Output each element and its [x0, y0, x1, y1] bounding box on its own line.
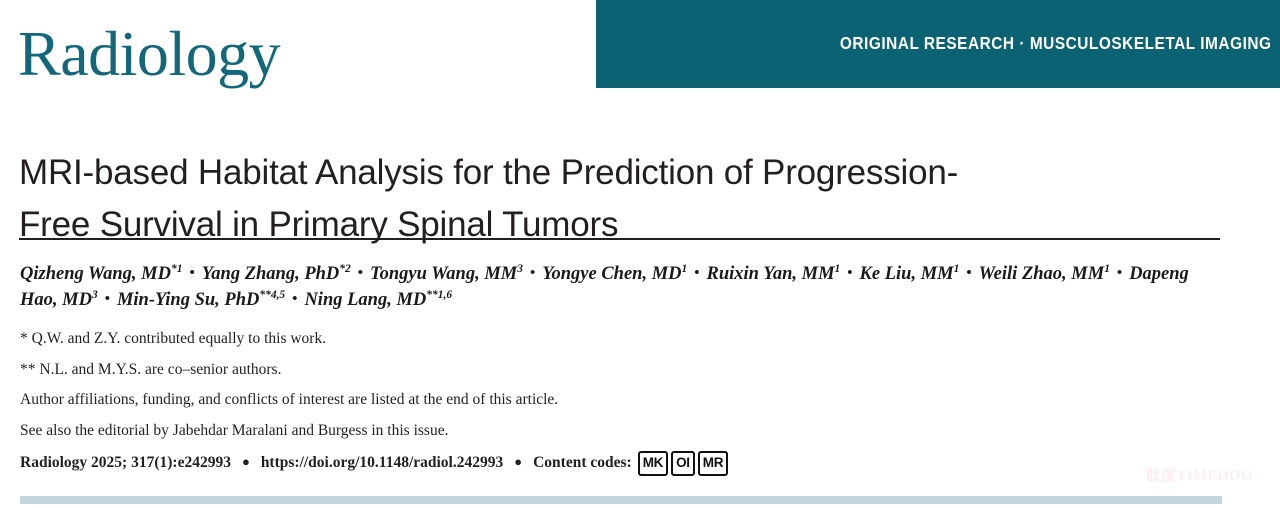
- category-banner-label: ORIGINAL RESEARCH · MUSCULOSKELETAL IMAG…: [840, 33, 1272, 54]
- author-entry[interactable]: Min-Ying Su, PhD**4,5: [117, 290, 285, 310]
- citation-separator-icon-2: ●: [503, 454, 533, 470]
- citation-line: Radiology 2025; 317(1):e242993 ● https:/…: [20, 451, 731, 476]
- content-codes-group: MKOIMR: [638, 451, 731, 476]
- site-watermark: 肽度TIMEDOO: [1146, 464, 1253, 485]
- content-code-badge[interactable]: OI: [671, 451, 695, 476]
- content-codes-label: Content codes:: [533, 454, 632, 472]
- author-name: Ruixin Yan, MM: [707, 264, 835, 284]
- journal-logo[interactable]: Radiology: [18, 22, 280, 86]
- bottom-accent-bar: [20, 496, 1222, 504]
- author-separator-icon: •: [351, 265, 370, 281]
- author-name: Weili Zhao, MM: [979, 264, 1105, 284]
- footnote-line: See also the editorial by Jabehdar Maral…: [20, 422, 1220, 440]
- author-entry[interactable]: Yongye Chen, MD1: [542, 264, 687, 284]
- title-divider-rule: [19, 238, 1220, 240]
- author-affiliation-marker: *1: [171, 263, 182, 275]
- author-affiliation-marker: **4,5: [259, 289, 285, 301]
- author-affiliation-marker: 3: [92, 289, 98, 301]
- author-entry[interactable]: Ruixin Yan, MM1: [707, 264, 841, 284]
- footnote-line: ** N.L. and M.Y.S. are co–senior authors…: [20, 361, 1220, 379]
- citation-reference: Radiology 2025; 317(1):e242993: [20, 454, 231, 472]
- author-separator-icon: •: [959, 265, 978, 281]
- category-banner: ORIGINAL RESEARCH · MUSCULOSKELETAL IMAG…: [596, 0, 1280, 88]
- article-title-line-2: Free Survival in Primary Spinal Tumors: [19, 199, 1199, 251]
- author-entry[interactable]: Yang Zhang, PhD*2: [202, 264, 351, 284]
- footnote-line: * Q.W. and Z.Y. contributed equally to t…: [20, 330, 1220, 348]
- author-entry[interactable]: Ning Lang, MD**1,6: [304, 290, 452, 310]
- footnote-line: Author affiliations, funding, and confli…: [20, 391, 1220, 409]
- content-code-badge[interactable]: MR: [698, 451, 728, 476]
- author-affiliation-marker: *2: [339, 263, 350, 275]
- author-separator-icon: •: [182, 265, 201, 281]
- author-name: Yang Zhang, PhD: [202, 264, 340, 284]
- author-entry[interactable]: Ke Liu, MM1: [860, 264, 960, 284]
- author-name: Yongye Chen, MD: [542, 264, 681, 284]
- author-name: Qizheng Wang, MD: [20, 264, 171, 284]
- author-separator-icon: •: [523, 265, 542, 281]
- author-separator-icon: •: [840, 265, 859, 281]
- author-separator-icon: •: [285, 291, 304, 307]
- author-name: Ke Liu, MM: [860, 264, 954, 284]
- author-separator-icon: •: [1110, 265, 1129, 281]
- footnote-block: * Q.W. and Z.Y. contributed equally to t…: [20, 330, 1220, 452]
- article-title: MRI-based Habitat Analysis for the Predi…: [19, 147, 1199, 251]
- author-name: Min-Ying Su, PhD: [117, 290, 259, 310]
- article-title-line-1: MRI-based Habitat Analysis for the Predi…: [19, 147, 1199, 199]
- citation-separator-icon: ●: [231, 454, 261, 470]
- author-entry[interactable]: Qizheng Wang, MD*1: [20, 264, 182, 284]
- author-name: Tongyu Wang, MM: [370, 264, 517, 284]
- author-entry[interactable]: Weili Zhao, MM1: [979, 264, 1110, 284]
- author-list: Qizheng Wang, MD*1•Yang Zhang, PhD*2•Ton…: [20, 262, 1230, 314]
- author-separator-icon: •: [687, 265, 706, 281]
- author-affiliation-marker: **1,6: [426, 289, 452, 301]
- author-entry[interactable]: Tongyu Wang, MM3: [370, 264, 523, 284]
- author-separator-icon: •: [98, 291, 117, 307]
- author-name: Ning Lang, MD: [304, 290, 426, 310]
- content-code-badge[interactable]: MK: [638, 451, 668, 476]
- citation-doi-link[interactable]: https://doi.org/10.1148/radiol.242993: [261, 454, 503, 472]
